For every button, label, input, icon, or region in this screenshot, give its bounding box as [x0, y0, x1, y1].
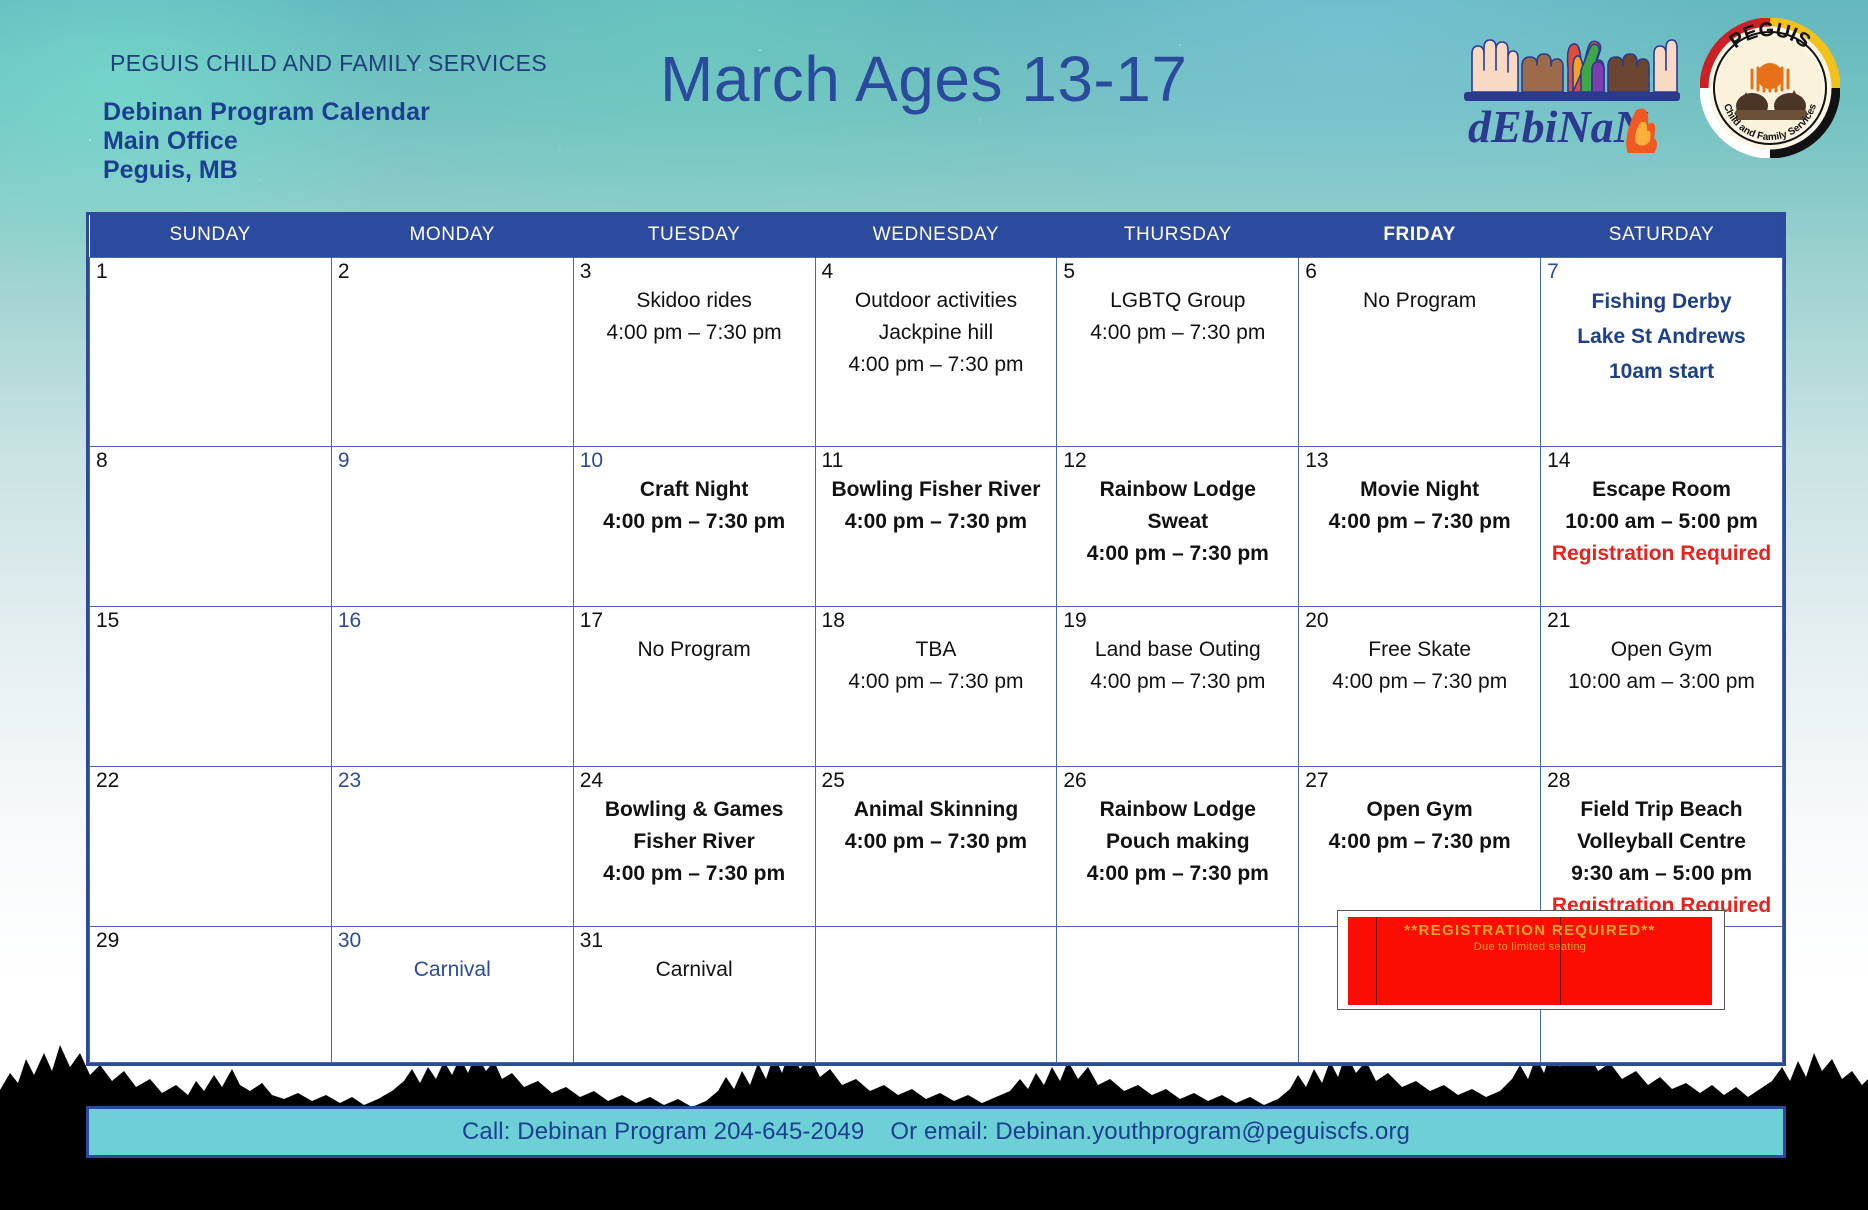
location-label: Peguis, MB: [103, 156, 430, 185]
calendar-day-cell-15[interactable]: 15: [90, 607, 332, 767]
calendar-day-cell-6[interactable]: 6No Program: [1299, 258, 1541, 447]
day-number: 5: [1063, 261, 1292, 283]
day-number: 7: [1547, 261, 1776, 283]
registration-overlay-inner: **REGISTRATION REQUIRED** Due to limited…: [1348, 917, 1712, 1005]
event-line: 9:30 am – 5:00 pm: [1547, 858, 1776, 890]
day-number: 31: [580, 930, 809, 952]
weekday-wednesday: WEDNESDAY: [815, 215, 1057, 258]
day-number: 13: [1305, 450, 1534, 472]
calendar-week-row: 222324Bowling & GamesFisher River4:00 pm…: [90, 767, 1783, 927]
calendar-day-cell-28[interactable]: 28Field Trip BeachVolleyball Centre9:30 …: [1541, 767, 1783, 927]
event-line: 4:00 pm – 7:30 pm: [1063, 666, 1292, 698]
event-line: Movie Night: [1305, 474, 1534, 506]
event-line: Rainbow Lodge: [1063, 794, 1292, 826]
footer-email-text: Or email: Debinan.youthprogram@peguiscfs…: [890, 1118, 1410, 1146]
day-number: 4: [822, 261, 1051, 283]
day-number: 17: [580, 610, 809, 632]
event-line: Sweat: [1063, 506, 1292, 538]
debinan-logo: dEbiNaN: [1460, 18, 1680, 153]
calendar-day-cell-13[interactable]: 13Movie Night4:00 pm – 7:30 pm: [1299, 447, 1541, 607]
day-number: 20: [1305, 610, 1534, 632]
day-number: 27: [1305, 770, 1534, 792]
event-line: Bowling Fisher River: [822, 474, 1051, 506]
day-number: 25: [822, 770, 1051, 792]
registration-overlay-subtitle: Due to limited seating: [1348, 939, 1712, 953]
event-line: Land base Outing: [1063, 634, 1292, 666]
event-line: 4:00 pm – 7:30 pm: [822, 826, 1051, 858]
contact-footer-bar: Call: Debinan Program 204-645-2049 Or em…: [86, 1106, 1786, 1158]
event-line: Volleyball Centre: [1547, 826, 1776, 858]
day-number: 9: [338, 450, 567, 472]
calendar-day-cell-18[interactable]: 18TBA4:00 pm – 7:30 pm: [815, 607, 1057, 767]
day-number: 26: [1063, 770, 1292, 792]
event-line: 4:00 pm – 7:30 pm: [822, 349, 1051, 381]
event-line: Pouch making: [1063, 826, 1292, 858]
calendar-day-cell-14[interactable]: 14Escape Room10:00 am – 5:00 pmRegistrat…: [1541, 447, 1783, 607]
day-number: 30: [338, 930, 567, 952]
calendar-day-cell-20[interactable]: 20Free Skate4:00 pm – 7:30 pm: [1299, 607, 1541, 767]
office-label: Main Office: [103, 127, 430, 156]
day-number: 19: [1063, 610, 1292, 632]
weekday-thursday: THURSDAY: [1057, 215, 1299, 258]
day-number: 15: [96, 610, 325, 632]
day-events: TBA4:00 pm – 7:30 pm: [822, 634, 1051, 698]
calendar-day-cell-31[interactable]: 31Carnival: [573, 927, 815, 1063]
event-line: 4:00 pm – 7:30 pm: [1063, 858, 1292, 890]
calendar-day-cell-2[interactable]: 2: [331, 258, 573, 447]
day-number: 23: [338, 770, 567, 792]
day-number: 10: [580, 450, 809, 472]
calendar-day-cell-25[interactable]: 25Animal Skinning4:00 pm – 7:30 pm: [815, 767, 1057, 927]
day-events: Rainbow LodgeSweat4:00 pm – 7:30 pm: [1063, 474, 1292, 570]
calendar-day-cell-3[interactable]: 3Skidoo rides4:00 pm – 7:30 pm: [573, 258, 815, 447]
event-line: 4:00 pm – 7:30 pm: [822, 506, 1051, 538]
day-events: Escape Room10:00 am – 5:00 pmRegistratio…: [1547, 474, 1776, 570]
event-line: 4:00 pm – 7:30 pm: [822, 666, 1051, 698]
day-number: 1: [96, 261, 325, 283]
day-number: 21: [1547, 610, 1776, 632]
calendar-day-cell-4[interactable]: 4Outdoor activitiesJackpine hill4:00 pm …: [815, 258, 1057, 447]
event-line: 4:00 pm – 7:30 pm: [1063, 538, 1292, 570]
calendar-week-row: 151617No Program18TBA4:00 pm – 7:30 pm19…: [90, 607, 1783, 767]
weekday-tuesday: TUESDAY: [573, 215, 815, 258]
event-line: Lake St Andrews: [1547, 320, 1776, 355]
event-line: Open Gym: [1547, 634, 1776, 666]
calendar-day-cell-1[interactable]: 1: [90, 258, 332, 447]
event-line: Jackpine hill: [822, 317, 1051, 349]
day-events: No Program: [580, 634, 809, 666]
day-number: 14: [1547, 450, 1776, 472]
calendar-day-cell-26[interactable]: 26Rainbow LodgePouch making4:00 pm – 7:3…: [1057, 767, 1299, 927]
day-number: 16: [338, 610, 567, 632]
day-events: Animal Skinning4:00 pm – 7:30 pm: [822, 794, 1051, 858]
day-events: Open Gym4:00 pm – 7:30 pm: [1305, 794, 1534, 858]
day-events: Free Skate4:00 pm – 7:30 pm: [1305, 634, 1534, 698]
event-line: 4:00 pm – 7:30 pm: [580, 858, 809, 890]
event-line: 4:00 pm – 7:30 pm: [1305, 506, 1534, 538]
event-line: 4:00 pm – 7:30 pm: [1305, 826, 1534, 858]
calendar-day-cell-10[interactable]: 10Craft Night4:00 pm – 7:30 pm: [573, 447, 815, 607]
event-line: Craft Night: [580, 474, 809, 506]
event-line: 4:00 pm – 7:30 pm: [1063, 317, 1292, 349]
event-line: 10:00 am – 3:00 pm: [1547, 666, 1776, 698]
calendar-day-cell-empty[interactable]: [1057, 927, 1299, 1063]
calendar-day-cell-23[interactable]: 23: [331, 767, 573, 927]
day-events: No Program: [1305, 285, 1534, 317]
day-number: 24: [580, 770, 809, 792]
calendar-day-cell-24[interactable]: 24Bowling & GamesFisher River4:00 pm – 7…: [573, 767, 815, 927]
event-line: Animal Skinning: [822, 794, 1051, 826]
event-line: Fisher River: [580, 826, 809, 858]
day-events: Craft Night4:00 pm – 7:30 pm: [580, 474, 809, 538]
organization-name: PEGUIS CHILD AND FAMILY SERVICES: [110, 50, 547, 77]
debinan-wordmark: dEbiNaN: [1468, 101, 1649, 152]
day-events: Bowling Fisher River4:00 pm – 7:30 pm: [822, 474, 1051, 538]
weekday-header-row: SUNDAY MONDAY TUESDAY WEDNESDAY THURSDAY…: [90, 215, 1783, 258]
day-events: Open Gym10:00 am – 3:00 pm: [1547, 634, 1776, 698]
day-number: 28: [1547, 770, 1776, 792]
event-line: TBA: [822, 634, 1051, 666]
day-number: 6: [1305, 261, 1534, 283]
calendar-day-cell-7[interactable]: 7Fishing DerbyLake St Andrews10am start: [1541, 258, 1783, 447]
event-line: Carnival: [338, 954, 567, 986]
day-events: Carnival: [338, 954, 567, 986]
day-number: 22: [96, 770, 325, 792]
day-number: 18: [822, 610, 1051, 632]
weekday-friday: FRIDAY: [1299, 215, 1541, 258]
event-line: Open Gym: [1305, 794, 1534, 826]
day-number: 8: [96, 450, 325, 472]
calendar-day-cell-29[interactable]: 29: [90, 927, 332, 1063]
day-number: 3: [580, 261, 809, 283]
event-line: LGBTQ Group: [1063, 285, 1292, 317]
registration-required-overlay: **REGISTRATION REQUIRED** Due to limited…: [1337, 910, 1725, 1010]
day-events: Skidoo rides4:00 pm – 7:30 pm: [580, 285, 809, 349]
event-line: 10am start: [1547, 355, 1776, 390]
event-line: No Program: [1305, 285, 1534, 317]
weekday-monday: MONDAY: [331, 215, 573, 258]
calendar-day-cell-17[interactable]: 17No Program: [573, 607, 815, 767]
event-line: Field Trip Beach: [1547, 794, 1776, 826]
day-events: Fishing DerbyLake St Andrews10am start: [1547, 285, 1776, 390]
calendar-day-cell-16[interactable]: 16: [331, 607, 573, 767]
calendar-day-cell-30[interactable]: 30Carnival: [331, 927, 573, 1063]
day-events: Movie Night4:00 pm – 7:30 pm: [1305, 474, 1534, 538]
event-line: Carnival: [580, 954, 809, 986]
calendar-day-cell-9[interactable]: 9: [331, 447, 573, 607]
calendar-day-cell-empty[interactable]: [815, 927, 1057, 1063]
calendar-poster: PEGUIS CHILD AND FAMILY SERVICES Debinan…: [0, 0, 1868, 1210]
day-events: LGBTQ Group4:00 pm – 7:30 pm: [1063, 285, 1292, 349]
registration-overlay-title: **REGISTRATION REQUIRED**: [1348, 917, 1712, 939]
peguis-cfs-logo: PEGUIS Child and Family Services: [1700, 18, 1840, 158]
calendar-day-cell-8[interactable]: 8: [90, 447, 332, 607]
calendar-week-row: 8910Craft Night4:00 pm – 7:30 pm11Bowlin…: [90, 447, 1783, 607]
event-line: 4:00 pm – 7:30 pm: [580, 506, 809, 538]
footer-call-text: Call: Debinan Program 204-645-2049: [462, 1118, 864, 1146]
day-number: 2: [338, 261, 567, 283]
day-number: 12: [1063, 450, 1292, 472]
day-number: 29: [96, 930, 325, 952]
program-subtitle-block: Debinan Program Calendar Main Office Peg…: [103, 98, 430, 185]
page-title: March Ages 13-17: [660, 42, 1187, 116]
day-events: Rainbow LodgePouch making4:00 pm – 7:30 …: [1063, 794, 1292, 890]
program-calendar-label: Debinan Program Calendar: [103, 98, 430, 127]
event-line: 4:00 pm – 7:30 pm: [1305, 666, 1534, 698]
day-events: Bowling & GamesFisher River4:00 pm – 7:3…: [580, 794, 809, 890]
day-events: Land base Outing4:00 pm – 7:30 pm: [1063, 634, 1292, 698]
event-line: Fishing Derby: [1547, 285, 1776, 320]
event-line: Outdoor activities: [822, 285, 1051, 317]
calendar-day-cell-19[interactable]: 19Land base Outing4:00 pm – 7:30 pm: [1057, 607, 1299, 767]
event-line: Escape Room: [1547, 474, 1776, 506]
event-line: Registration Required: [1547, 538, 1776, 570]
calendar-day-cell-11[interactable]: 11Bowling Fisher River4:00 pm – 7:30 pm: [815, 447, 1057, 607]
calendar-day-cell-27[interactable]: 27Open Gym4:00 pm – 7:30 pm: [1299, 767, 1541, 927]
event-line: Bowling & Games: [580, 794, 809, 826]
day-events: Outdoor activitiesJackpine hill4:00 pm –…: [822, 285, 1051, 381]
calendar-week-row: 123Skidoo rides4:00 pm – 7:30 pm4Outdoor…: [90, 258, 1783, 447]
event-line: Skidoo rides: [580, 285, 809, 317]
event-line: Rainbow Lodge: [1063, 474, 1292, 506]
calendar-day-cell-12[interactable]: 12Rainbow LodgeSweat4:00 pm – 7:30 pm: [1057, 447, 1299, 607]
calendar-day-cell-22[interactable]: 22: [90, 767, 332, 927]
weekday-saturday: SATURDAY: [1541, 215, 1783, 258]
day-events: Carnival: [580, 954, 809, 986]
day-events: Field Trip BeachVolleyball Centre9:30 am…: [1547, 794, 1776, 922]
event-line: 10:00 am – 5:00 pm: [1547, 506, 1776, 538]
day-number: 11: [822, 450, 1051, 472]
event-line: 4:00 pm – 7:30 pm: [580, 317, 809, 349]
weekday-sunday: SUNDAY: [90, 215, 332, 258]
event-line: Free Skate: [1305, 634, 1534, 666]
calendar-day-cell-21[interactable]: 21Open Gym10:00 am – 3:00 pm: [1541, 607, 1783, 767]
calendar-day-cell-5[interactable]: 5LGBTQ Group4:00 pm – 7:30 pm: [1057, 258, 1299, 447]
event-line: No Program: [580, 634, 809, 666]
